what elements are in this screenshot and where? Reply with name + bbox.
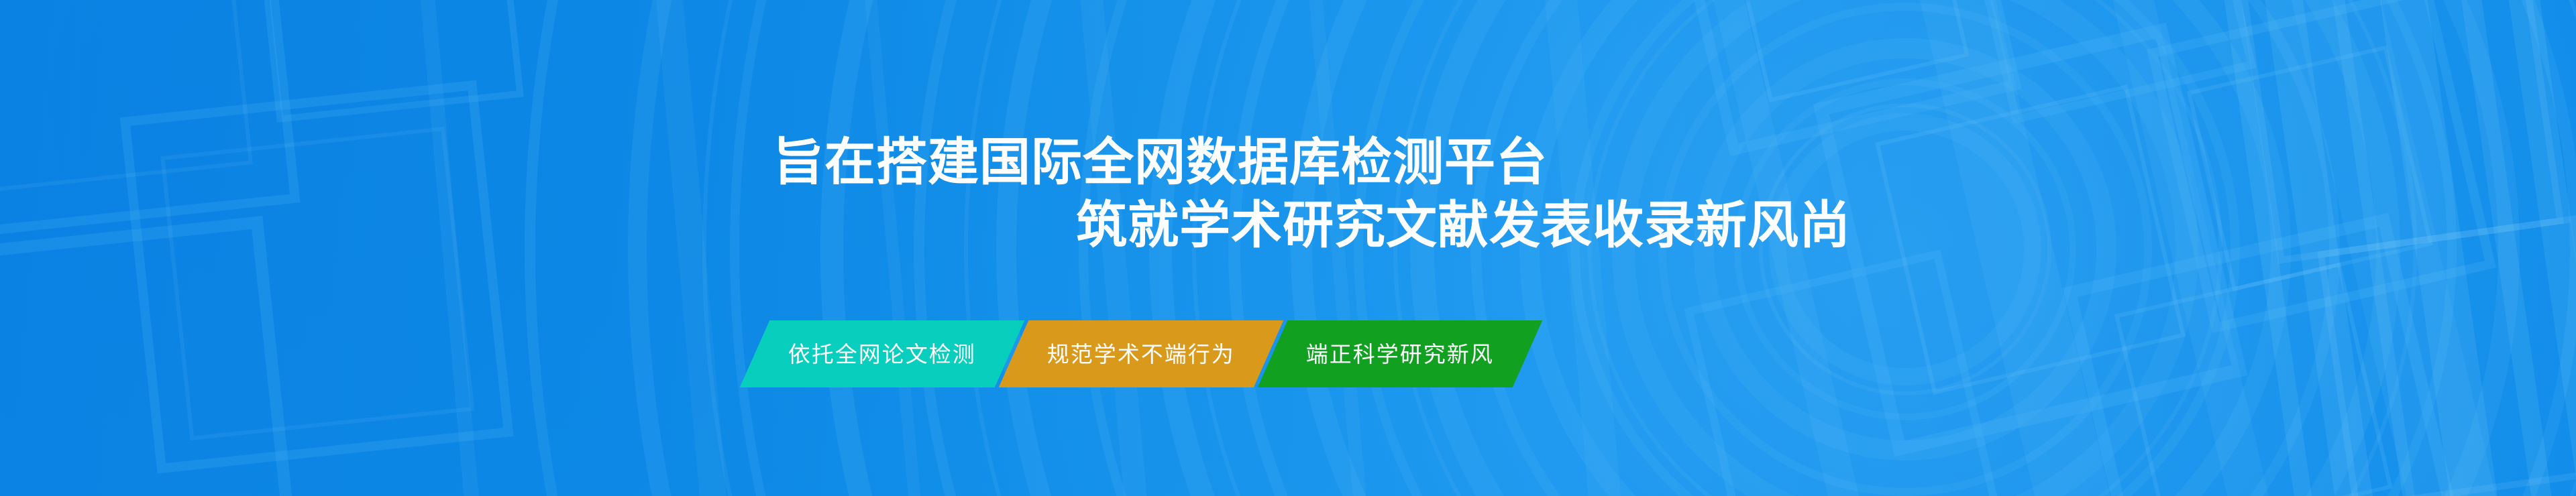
hero-banner: 旨在搭建国际全网数据库检测平台 筑就学术研究文献发表收录新风尚 依托全网论文检测… [0,0,2576,496]
headline-line-2: 筑就学术研究文献发表收录新风尚 [0,194,2576,257]
tag-academic-misconduct[interactable]: 规范学术不端行为 [999,320,1284,387]
tag-paper-detection[interactable]: 依托全网论文检测 [740,320,1025,387]
headline-line-1: 旨在搭建国际全网数据库检测平台 [0,131,2576,194]
tag-paper-detection-label: 依托全网论文检测 [788,343,976,365]
feature-tag-group: 依托全网论文检测 规范学术不端行为 端正科学研究新风 [755,320,1527,387]
tag-academic-misconduct-label: 规范学术不端行为 [1047,343,1235,365]
headline-block: 旨在搭建国际全网数据库检测平台 筑就学术研究文献发表收录新风尚 [0,131,2576,257]
tag-research-ethics[interactable]: 端正科学研究新风 [1258,320,1543,387]
tag-research-ethics-label: 端正科学研究新风 [1306,343,1494,365]
